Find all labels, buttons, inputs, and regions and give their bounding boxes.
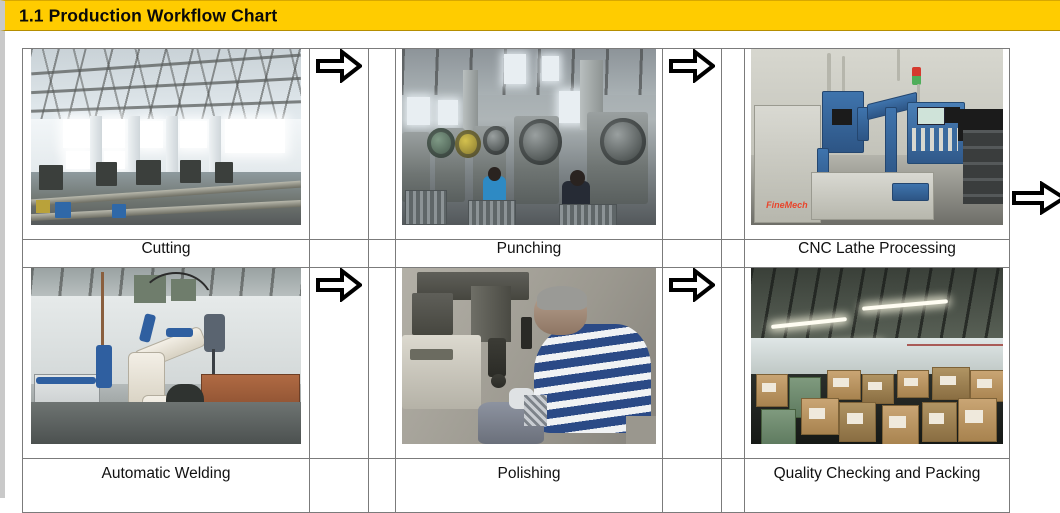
step-label: Punching [396, 240, 662, 258]
workflow-row-labels-1: Cutting Punching CNC Lathe Processing [23, 240, 1010, 268]
photo-punching [402, 49, 656, 225]
production-workflow-page: 1.1 Production Workflow Chart [0, 0, 1060, 498]
label-gap-b2 [722, 240, 745, 268]
page-title: 1.1 Production Workflow Chart [19, 5, 277, 26]
label-gap-a2 [663, 240, 722, 268]
spacer-cell-3 [369, 268, 396, 459]
label-gap-a3 [310, 459, 369, 513]
right-block-arrow-icon [316, 49, 362, 83]
workflow-row-images-1: FineMech [23, 49, 1010, 240]
photo-cutting [31, 49, 301, 225]
step-label-cell-2: Punching [396, 240, 663, 268]
section-title-bar: 1.1 Production Workflow Chart [0, 0, 1060, 31]
step-image-cell-punching [396, 49, 663, 240]
step-label-cell-4: Automatic Welding [23, 459, 310, 513]
step-label-cell-3: CNC Lathe Processing [745, 240, 1010, 268]
arrow-cell-2 [663, 49, 722, 240]
photo-quality-packing [751, 268, 1003, 444]
cnc-brand-label: FineMech [766, 200, 808, 210]
step-label: Polishing [396, 464, 662, 483]
workflow-table: FineMech Cutting Punching CNC Lath [22, 48, 1010, 513]
label-gap-a4 [663, 459, 722, 513]
photo-automatic-welding [31, 268, 301, 444]
step-label: Quality Checking and Packing [773, 464, 981, 483]
step-image-cell-packing [745, 268, 1010, 459]
label-gap-b3 [369, 459, 396, 513]
label-gap-b4 [722, 459, 745, 513]
right-block-arrow-icon [669, 268, 715, 302]
step-label: Automatic Welding [23, 464, 309, 483]
step-image-cell-cnc: FineMech [745, 49, 1010, 240]
arrow-cell-1 [310, 49, 369, 240]
step-image-cell-polishing [396, 268, 663, 459]
step-image-cell-welding [23, 268, 310, 459]
workflow-trailing-arrow [1012, 181, 1060, 215]
label-gap-a1 [310, 240, 369, 268]
workflow-row-images-2 [23, 268, 1010, 459]
arrow-cell-3 [310, 268, 369, 459]
right-block-arrow-icon [1012, 181, 1060, 215]
spacer-cell-2 [722, 49, 745, 240]
right-block-arrow-icon [669, 49, 715, 83]
step-label: CNC Lathe Processing [745, 240, 1009, 258]
right-block-arrow-icon [316, 268, 362, 302]
spacer-cell-1 [369, 49, 396, 240]
step-label-cell-1: Cutting [23, 240, 310, 268]
step-image-cell-cutting [23, 49, 310, 240]
workflow-body: FineMech Cutting Punching CNC Lath [0, 31, 1060, 498]
photo-polishing [402, 268, 656, 444]
photo-cnc-lathe: FineMech [751, 49, 1003, 225]
step-label: Cutting [23, 240, 309, 258]
step-label-cell-6: Quality Checking and Packing [745, 459, 1010, 513]
spacer-cell-4 [722, 268, 745, 459]
workflow-row-labels-2: Automatic Welding Polishing Quality Chec… [23, 459, 1010, 513]
arrow-cell-4 [663, 268, 722, 459]
label-gap-b1 [369, 240, 396, 268]
step-label-cell-5: Polishing [396, 459, 663, 513]
